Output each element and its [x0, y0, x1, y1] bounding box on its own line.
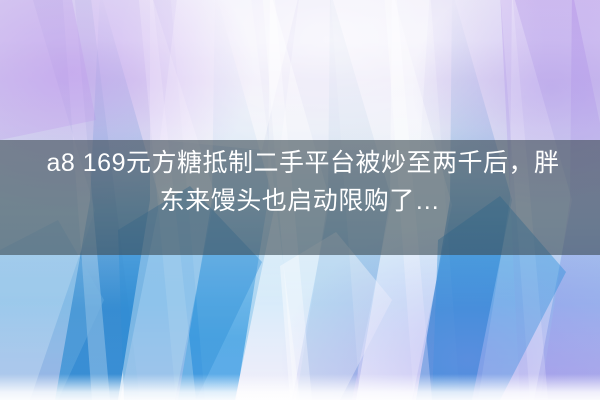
caption-band: a8 169元方糖抵制二手平台被炒至两千后，胖 东来馒头也启动限购了… — [0, 140, 600, 255]
caption-line-2: 东来馒头也启动限购了… — [160, 182, 441, 220]
caption-line-1: a8 169元方糖抵制二手平台被炒至两千后，胖 — [41, 144, 560, 182]
banner-image: a8 169元方糖抵制二手平台被炒至两千后，胖 东来馒头也启动限购了… — [0, 0, 600, 400]
